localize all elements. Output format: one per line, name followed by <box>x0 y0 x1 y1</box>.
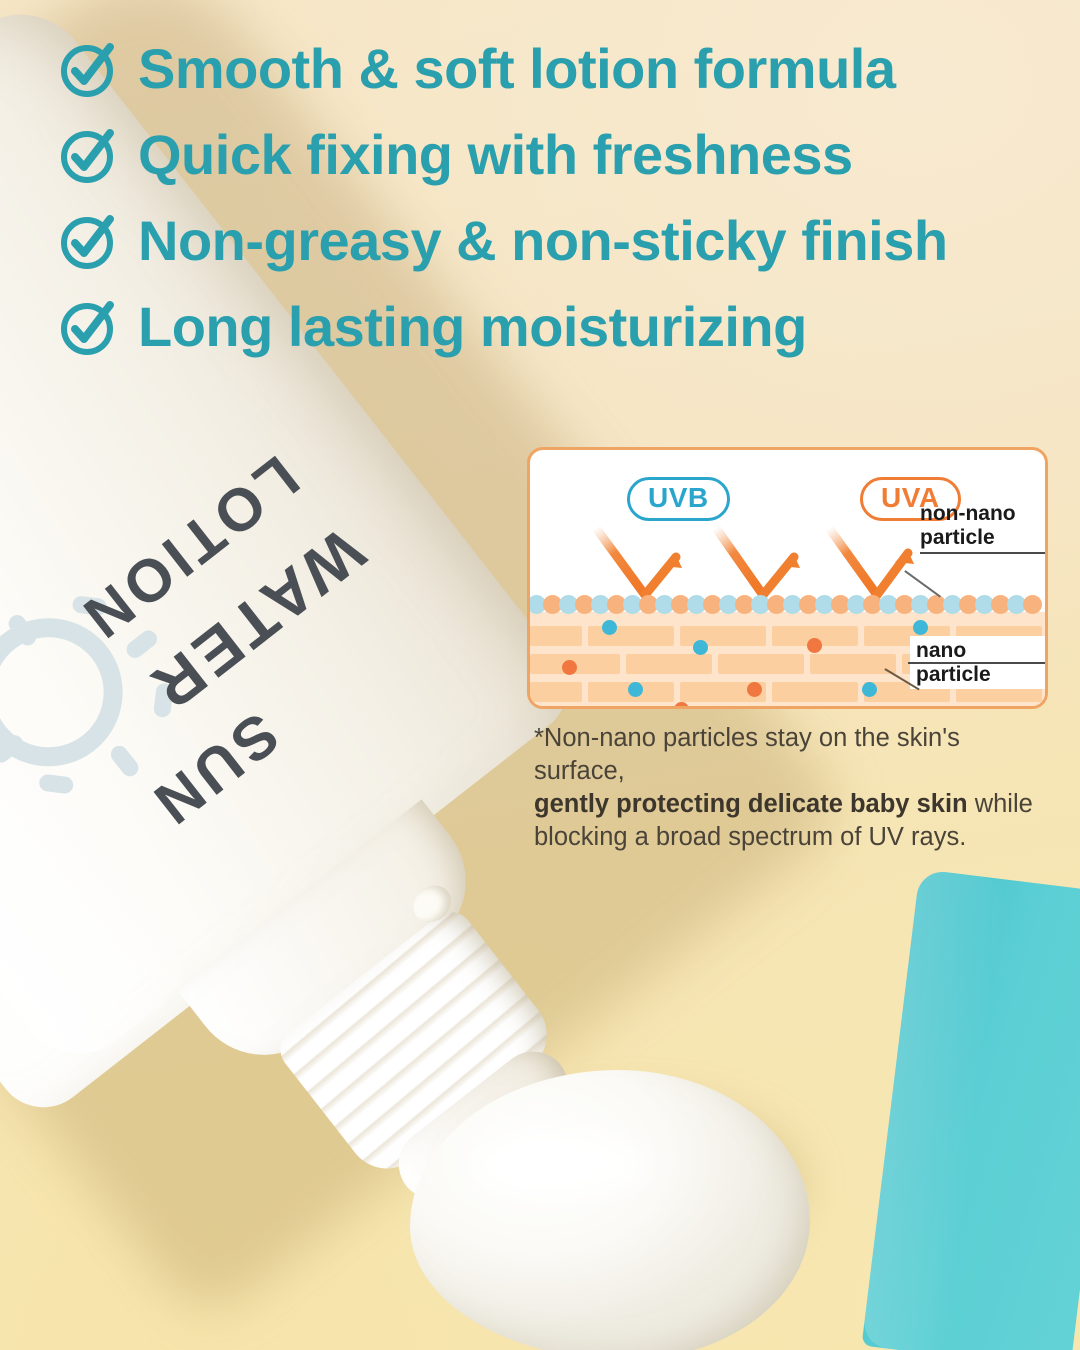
non-nano-particle-label: non-nano particle <box>920 502 1016 549</box>
nano-particle-dot <box>693 640 708 655</box>
list-item: Smooth & soft lotion formula <box>58 38 1058 100</box>
uv-ray-arrow-icon <box>596 528 682 595</box>
check-circle-icon <box>58 210 120 272</box>
nano-particle-dot <box>602 620 617 635</box>
nano-particle-dot <box>862 682 877 697</box>
list-item: Non-greasy & non-sticky finish <box>58 210 1058 272</box>
nano-label-underline <box>908 662 1045 664</box>
nano-particle-dot <box>913 620 928 635</box>
uv-protection-diagram: UVB UVA <box>527 447 1048 709</box>
uv-ray-arrow-icon <box>829 528 914 595</box>
nano-particle-dot <box>674 702 689 709</box>
non-nano-particle-layer <box>530 590 1045 618</box>
non-nano-label-underline <box>920 552 1045 554</box>
list-item: Quick fixing with freshness <box>58 124 1058 186</box>
list-item: Long lasting moisturizing <box>58 296 1058 358</box>
nano-particle-dot <box>747 682 762 697</box>
check-circle-icon <box>58 124 120 186</box>
caption-bold-part: gently protecting delicate baby skin <box>534 790 968 818</box>
caption-line-1: *Non-nano particles stay on the skin's s… <box>534 724 960 785</box>
caption-line-3: blocking a broad spectrum of UV rays. <box>534 823 966 851</box>
nano-particle-dot <box>562 660 577 675</box>
diagram-caption: *Non-nano particles stay on the skin's s… <box>534 722 1054 855</box>
nano-particle-dot <box>628 682 643 697</box>
bullet-label: Long lasting moisturizing <box>138 299 807 355</box>
check-circle-icon <box>58 38 120 100</box>
product-marketing-image: SUN WATER LOTION Smooth & soft lotion fo… <box>0 0 1080 1350</box>
nano-particle-dot <box>807 638 822 653</box>
sun-ray <box>107 742 141 779</box>
check-circle-icon <box>58 296 120 358</box>
sun-ray <box>38 774 74 795</box>
lotion-blob-highlight <box>470 1130 650 1200</box>
uv-ray-arrow-icon <box>716 528 800 595</box>
bullet-label: Quick fixing with freshness <box>138 127 853 183</box>
bullet-label: Non-greasy & non-sticky finish <box>138 213 948 269</box>
bullet-label: Smooth & soft lotion formula <box>138 41 895 97</box>
feature-bullet-list: Smooth & soft lotion formula Quick fixin… <box>58 38 1058 382</box>
caption-after-bold: while <box>968 790 1033 818</box>
